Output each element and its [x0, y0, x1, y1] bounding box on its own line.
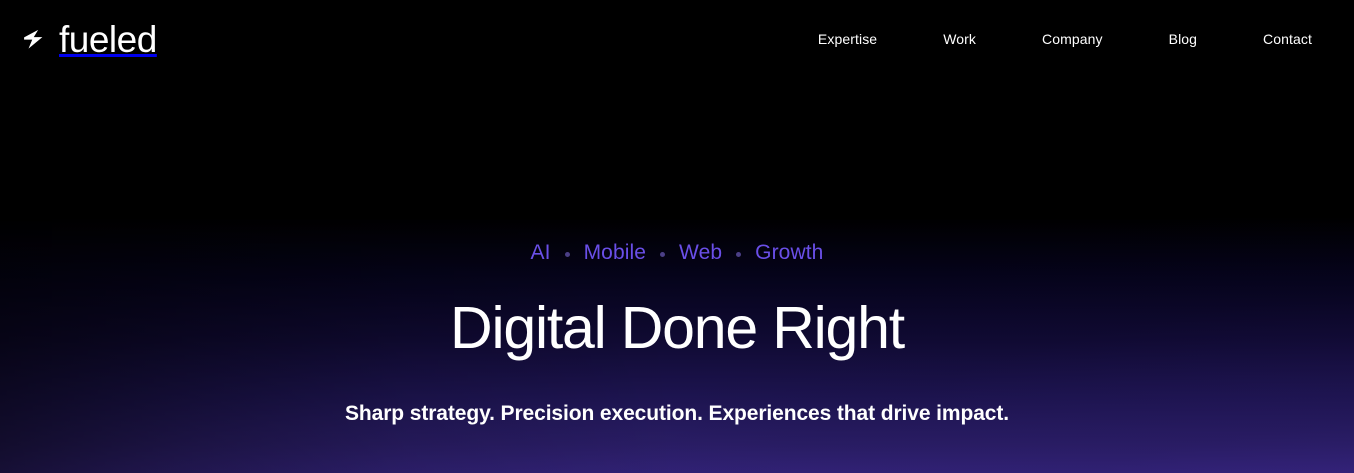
service-tag-web[interactable]: Web — [679, 241, 722, 265]
separator-dot-icon — [736, 252, 741, 257]
hero-headline: Digital Done Right — [0, 298, 1354, 360]
primary-navigation: Expertise Work Company Blog Contact — [818, 23, 1312, 55]
nav-item-work[interactable]: Work — [943, 23, 976, 55]
separator-dot-icon — [565, 252, 570, 257]
nav-item-expertise[interactable]: Expertise — [818, 23, 877, 55]
nav-item-contact[interactable]: Contact — [1263, 23, 1312, 55]
service-tag-ai[interactable]: AI — [531, 241, 551, 265]
nav-item-blog[interactable]: Blog — [1169, 23, 1197, 55]
site-header: fueled Expertise Work Company Blog Conta… — [0, 0, 1354, 78]
landing-page: fueled Expertise Work Company Blog Conta… — [0, 0, 1354, 473]
hero-subheadline: Sharp strategy. Precision execution. Exp… — [0, 400, 1354, 427]
hero-service-tags: AI Mobile Web Growth — [0, 236, 1354, 270]
hero-section: AI Mobile Web Growth Digital Done Right … — [0, 236, 1354, 427]
logo-home-link[interactable]: fueled — [18, 21, 157, 58]
separator-dot-icon — [660, 252, 665, 257]
service-tag-growth[interactable]: Growth — [755, 241, 823, 265]
nav-item-company[interactable]: Company — [1042, 23, 1103, 55]
lightning-bolt-icon — [18, 24, 48, 54]
service-tag-mobile[interactable]: Mobile — [584, 241, 646, 265]
logo-wordmark: fueled — [59, 21, 157, 58]
